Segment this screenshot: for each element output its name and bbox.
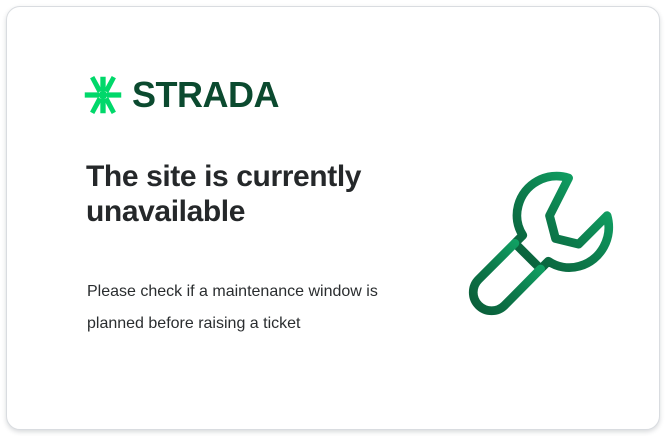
strada-asterisk-icon xyxy=(84,76,122,114)
page-description: Please check if a maintenance window is … xyxy=(87,276,387,340)
wrench-icon xyxy=(462,162,620,317)
maintenance-card: STRADA The site is currently unavailable… xyxy=(6,6,660,430)
brand-logo: STRADA xyxy=(84,76,279,114)
page-title: The site is currently unavailable xyxy=(86,159,416,230)
maintenance-page: STRADA The site is currently unavailable… xyxy=(0,0,666,436)
brand-wordmark: STRADA xyxy=(132,77,279,113)
